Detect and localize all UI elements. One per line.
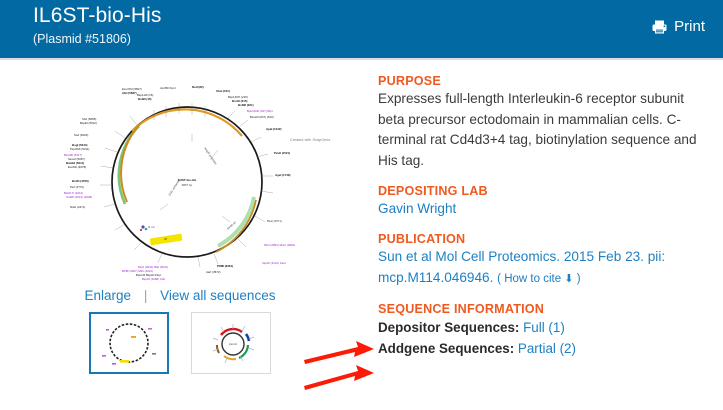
svg-text:XhoI (161): XhoI (161) — [216, 89, 230, 93]
plasmid-map-image[interactable]: .tk{font-family:"Liberation Sans",sans-s… — [42, 64, 332, 282]
addgene-sequences-row: Addgene Sequences: Partial (2) — [378, 338, 708, 359]
svg-text:PsiI (4772): PsiI (4772) — [70, 185, 84, 189]
header-divider — [0, 58, 723, 60]
plasmid-detail-page: IL6ST-bio-His (Plasmid #51806) Print — [0, 0, 723, 410]
svg-text:BssHII (547) (613): BssHII (547) (613) — [250, 115, 274, 119]
page-header: IL6ST-bio-His (Plasmid #51806) Print — [0, 0, 723, 58]
sequence-information-section: SEQUENCE INFORMATION Depositor Sequences… — [378, 302, 708, 359]
svg-text:BstBI (15): BstBI (15) — [138, 97, 152, 101]
addgene-sequences-label: Addgene Sequences: — [378, 341, 514, 356]
plasmid-id-subtitle: (Plasmid #51806) — [33, 32, 131, 46]
map-links: Enlarge | View all sequences — [0, 288, 360, 303]
thumbnail-depositor-map[interactable] — [89, 312, 169, 374]
svg-text:AgeI (1749): AgeI (1749) — [275, 173, 290, 177]
how-to-cite[interactable]: ( How to cite ⬇ ) — [497, 273, 580, 285]
svg-text:MfeI (2891) MunI (2891): MfeI (2891) MunI (2891) — [264, 243, 295, 247]
svg-text:AfeI (5827): AfeI (5827) — [122, 91, 137, 95]
svg-text:BamHI (5011): BamHI (5011) — [66, 161, 84, 165]
svg-text:SexAI (5067): SexAI (5067) — [68, 157, 85, 161]
svg-text:BstZ17I (4612): BstZ17I (4612) — [64, 191, 83, 195]
svg-text:BspEI (5612): BspEI (5612) — [80, 121, 97, 125]
depositing-lab-link[interactable]: Gavin Wright — [378, 201, 456, 216]
enlarge-link[interactable]: Enlarge — [85, 288, 132, 303]
depositing-lab-heading: DEPOSITING LAB — [378, 184, 708, 198]
depositor-sequences-value[interactable]: Full (1) — [523, 320, 565, 335]
thumbnail-addgene-map[interactable]: plasmid — [191, 312, 271, 374]
svg-text:SV40 ori: SV40 ori — [226, 220, 237, 231]
printer-icon — [651, 19, 668, 35]
page-title: IL6ST-bio-His — [33, 4, 162, 28]
sequence-information-heading: SEQUENCE INFORMATION — [378, 302, 708, 316]
svg-text:AmpR promoter: AmpR promoter — [203, 146, 218, 165]
svg-text:AarI (3572): AarI (3572) — [206, 270, 220, 274]
how-to-cite-close-paren: ) — [577, 273, 581, 285]
svg-text:StuI (5402): StuI (5402) — [74, 133, 88, 137]
publication-link-line1[interactable]: Sun et al Mol Cell Proteomics. 2015 Feb … — [378, 249, 665, 264]
svg-text:f1 ori: f1 ori — [148, 225, 155, 229]
how-to-cite-label[interactable]: How to cite — [504, 273, 561, 285]
svg-text:PvuII (1521): PvuII (1521) — [274, 151, 290, 155]
map-thumbnail-list: plasmid — [0, 312, 360, 374]
svg-text:SspDI (3121) KasI: SspDI (3121) KasI — [262, 261, 286, 265]
svg-text:BstXI (4790): BstXI (4790) — [72, 179, 89, 183]
svg-text:BsiWI (321): BsiWI (321) — [238, 103, 254, 107]
links-separator: | — [144, 288, 148, 303]
svg-text:BsaI (2571): BsaI (2571) — [267, 219, 282, 223]
svg-text:PflMI (3361): PflMI (3361) — [217, 264, 233, 268]
addgene-sequences-value[interactable]: Partial (2) — [518, 341, 576, 356]
arrow-down-icon: ⬇ — [564, 273, 573, 285]
svg-text:SfoI (5685): SfoI (5685) — [82, 117, 96, 121]
svg-text:Bpu1102I (427) BlpI: Bpu1102I (427) BlpI — [247, 109, 273, 113]
publication-citation: Sun et al Mol Cell Proteomics. 2015 Feb … — [378, 247, 708, 289]
publication-link-line2[interactable]: mcp.M114.046946. — [378, 270, 493, 285]
svg-text:CMV enhancer: CMV enhancer — [167, 178, 181, 197]
plasmid-map-column: .tk{font-family:"Liberation Sans",sans-s… — [0, 62, 360, 410]
svg-text:NdeI (4471): NdeI (4471) — [70, 205, 85, 209]
svg-text:Bsu36I (5117): Bsu36I (5117) — [64, 153, 82, 157]
publication-heading: PUBLICATION — [378, 232, 708, 246]
depositing-lab-section: DEPOSITING LAB Gavin Wright — [378, 184, 708, 219]
purpose-text: Expresses full-length Interleukin-6 rece… — [378, 89, 708, 171]
svg-text:Acc65I KpnI: Acc65I KpnI — [160, 86, 176, 90]
svg-text:ApaI (1042): ApaI (1042) — [266, 127, 281, 131]
svg-text:Eco81I (4978): Eco81I (4978) — [68, 165, 86, 169]
svg-text:SnaBI (4612) (4628): SnaBI (4612) (4628) — [66, 195, 92, 199]
view-all-sequences-link[interactable]: View all sequences — [160, 288, 275, 303]
svg-text:plasmid: plasmid — [229, 343, 238, 346]
svg-text:NotI (82): NotI (82) — [192, 85, 204, 89]
publication-section: PUBLICATION Sun et al Mol Cell Proteomic… — [378, 232, 708, 289]
svg-text:BsgI (5244): BsgI (5244) — [72, 143, 87, 147]
purpose-section: PURPOSE Expresses full-length Interleuki… — [378, 74, 708, 171]
purpose-heading: PURPOSE — [378, 74, 708, 88]
snapgene-credit: Created with SnapGene — [290, 138, 330, 142]
depositor-sequences-label: Depositor Sequences: — [378, 320, 519, 335]
print-button-label: Print — [674, 18, 705, 35]
map-center-sublabel: 5867 bp — [182, 183, 193, 187]
svg-text:BspDI (4288) ClaI: BspDI (4288) ClaI — [142, 277, 165, 281]
svg-text:PspOMI (5211): PspOMI (5211) — [70, 147, 89, 151]
depositor-sequences-row: Depositor Sequences: Full (1) — [378, 317, 708, 338]
how-to-cite-open-paren: ( — [497, 273, 501, 285]
print-button[interactable]: Print — [651, 18, 705, 35]
plasmid-details-column: PURPOSE Expresses full-length Interleuki… — [378, 74, 708, 359]
